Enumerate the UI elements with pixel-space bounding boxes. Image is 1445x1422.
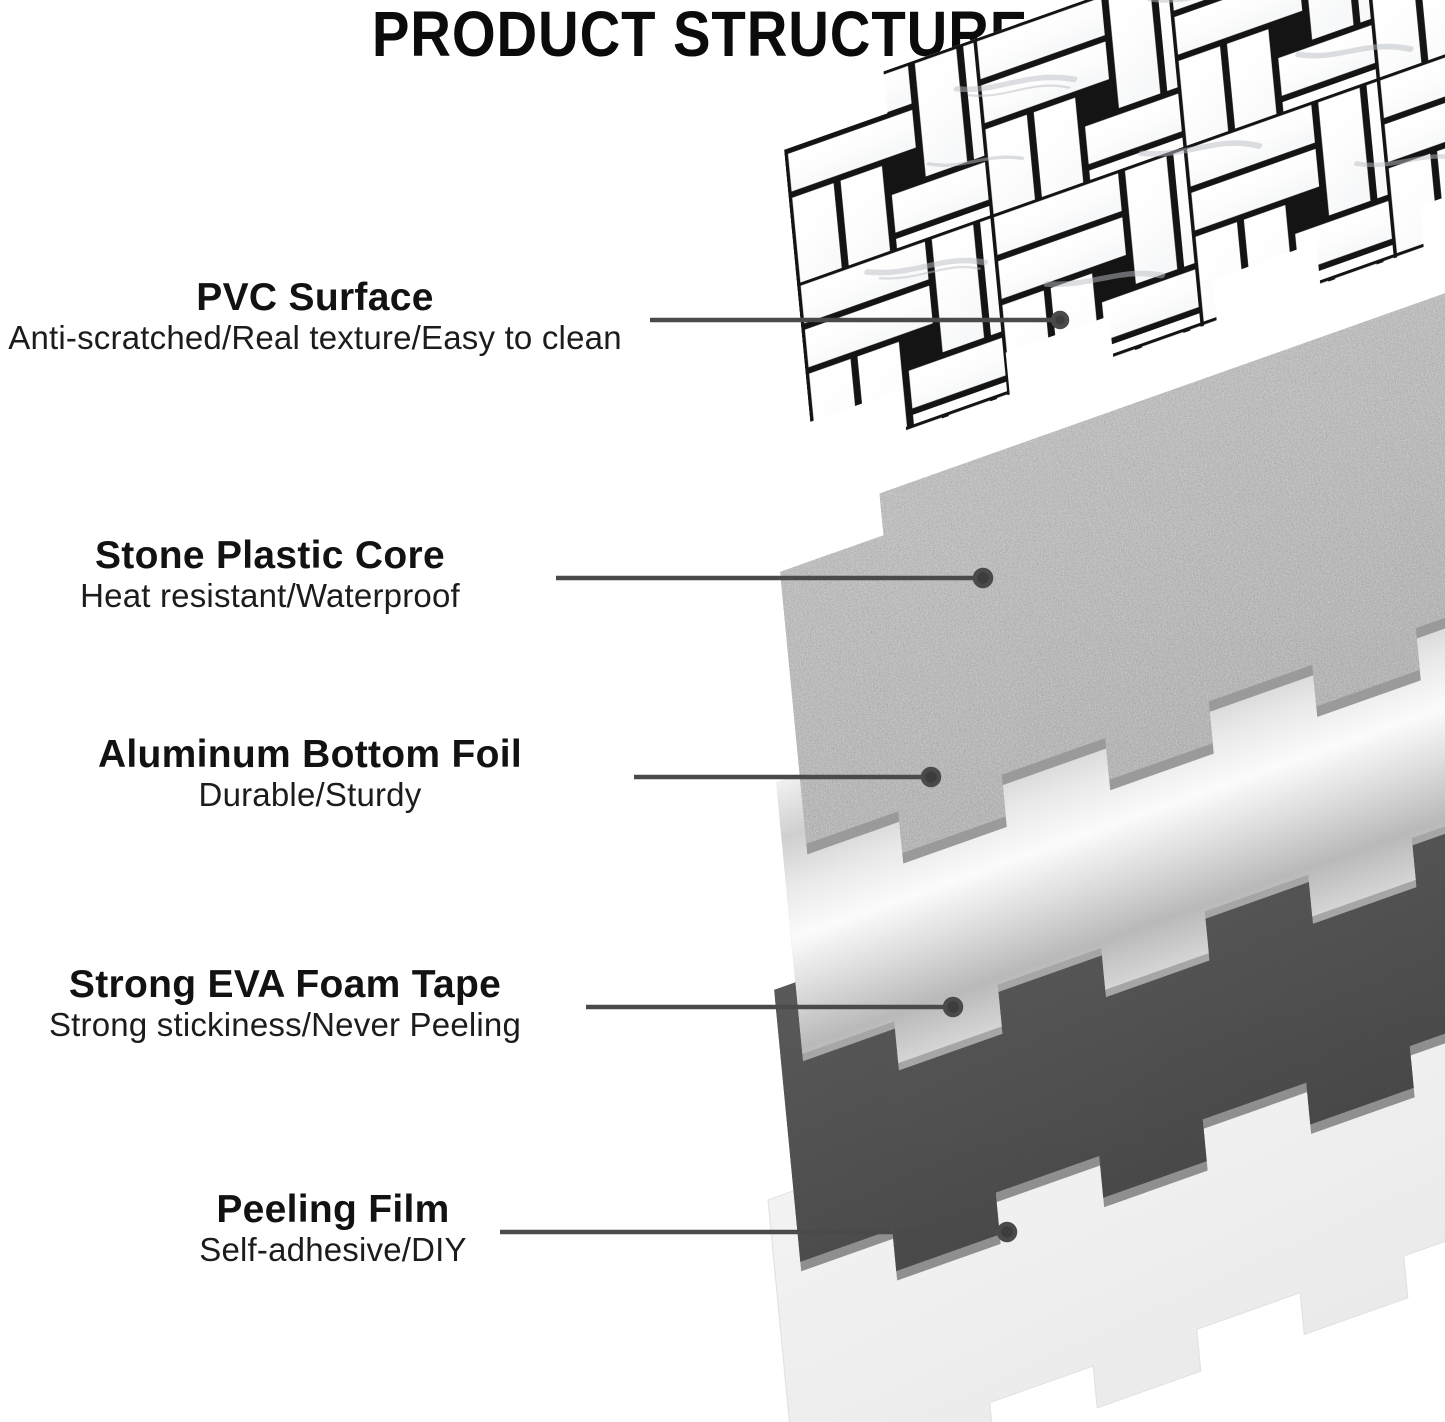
- layer-eva-foam-tape: [757, 657, 1445, 1370]
- callout-subtitle-aluminum-bottom-foil: Durable/Sturdy: [0, 777, 620, 814]
- callout-stone-plastic-core: Stone Plastic Core Heat resistant/Waterp…: [0, 534, 540, 615]
- callout-subtitle-peeling-film: Self-adhesive/DIY: [0, 1232, 666, 1269]
- leader-dot-stone-plastic-core: [975, 570, 991, 586]
- callout-pvc-surface: PVC Surface Anti-scratched/Real texture/…: [0, 276, 630, 357]
- layer-aluminum-foil: [759, 449, 1445, 1160]
- leader-dot-aluminum-foil: [923, 769, 939, 785]
- leader-dot-peeling-film: [999, 1224, 1015, 1240]
- callout-title-pvc-surface: PVC Surface: [0, 276, 630, 320]
- leader-dot-eva-foam-tape: [945, 999, 961, 1015]
- callout-strong-eva-foam-tape: Strong EVA Foam Tape Strong stickiness/N…: [0, 963, 570, 1044]
- leader-dot-pvc-surface: [1053, 313, 1067, 327]
- product-structure-infographic: PRODUCT STRUCTURE: [0, 0, 1445, 1422]
- page-title: PRODUCT STRUCTURE: [84, 2, 1316, 66]
- callout-subtitle-pvc-surface: Anti-scratched/Real texture/Easy to clea…: [0, 320, 630, 357]
- layer-peeling-film: [751, 867, 1445, 1422]
- callout-subtitle-stone-plastic-core: Heat resistant/Waterproof: [0, 578, 540, 615]
- callout-aluminum-bottom-foil: Aluminum Bottom Foil Durable/Sturdy: [0, 733, 620, 814]
- layer-pvc-surface: [767, 0, 1445, 520]
- layer-stone-plastic-core: [763, 239, 1445, 953]
- callout-title-aluminum-bottom-foil: Aluminum Bottom Foil: [0, 733, 620, 777]
- callout-peeling-film: Peeling Film Self-adhesive/DIY: [0, 1188, 666, 1269]
- callout-title-strong-eva-foam-tape: Strong EVA Foam Tape: [0, 963, 570, 1007]
- callout-subtitle-strong-eva-foam-tape: Strong stickiness/Never Peeling: [0, 1007, 570, 1044]
- callout-title-stone-plastic-core: Stone Plastic Core: [0, 534, 540, 578]
- callout-title-peeling-film: Peeling Film: [0, 1188, 666, 1232]
